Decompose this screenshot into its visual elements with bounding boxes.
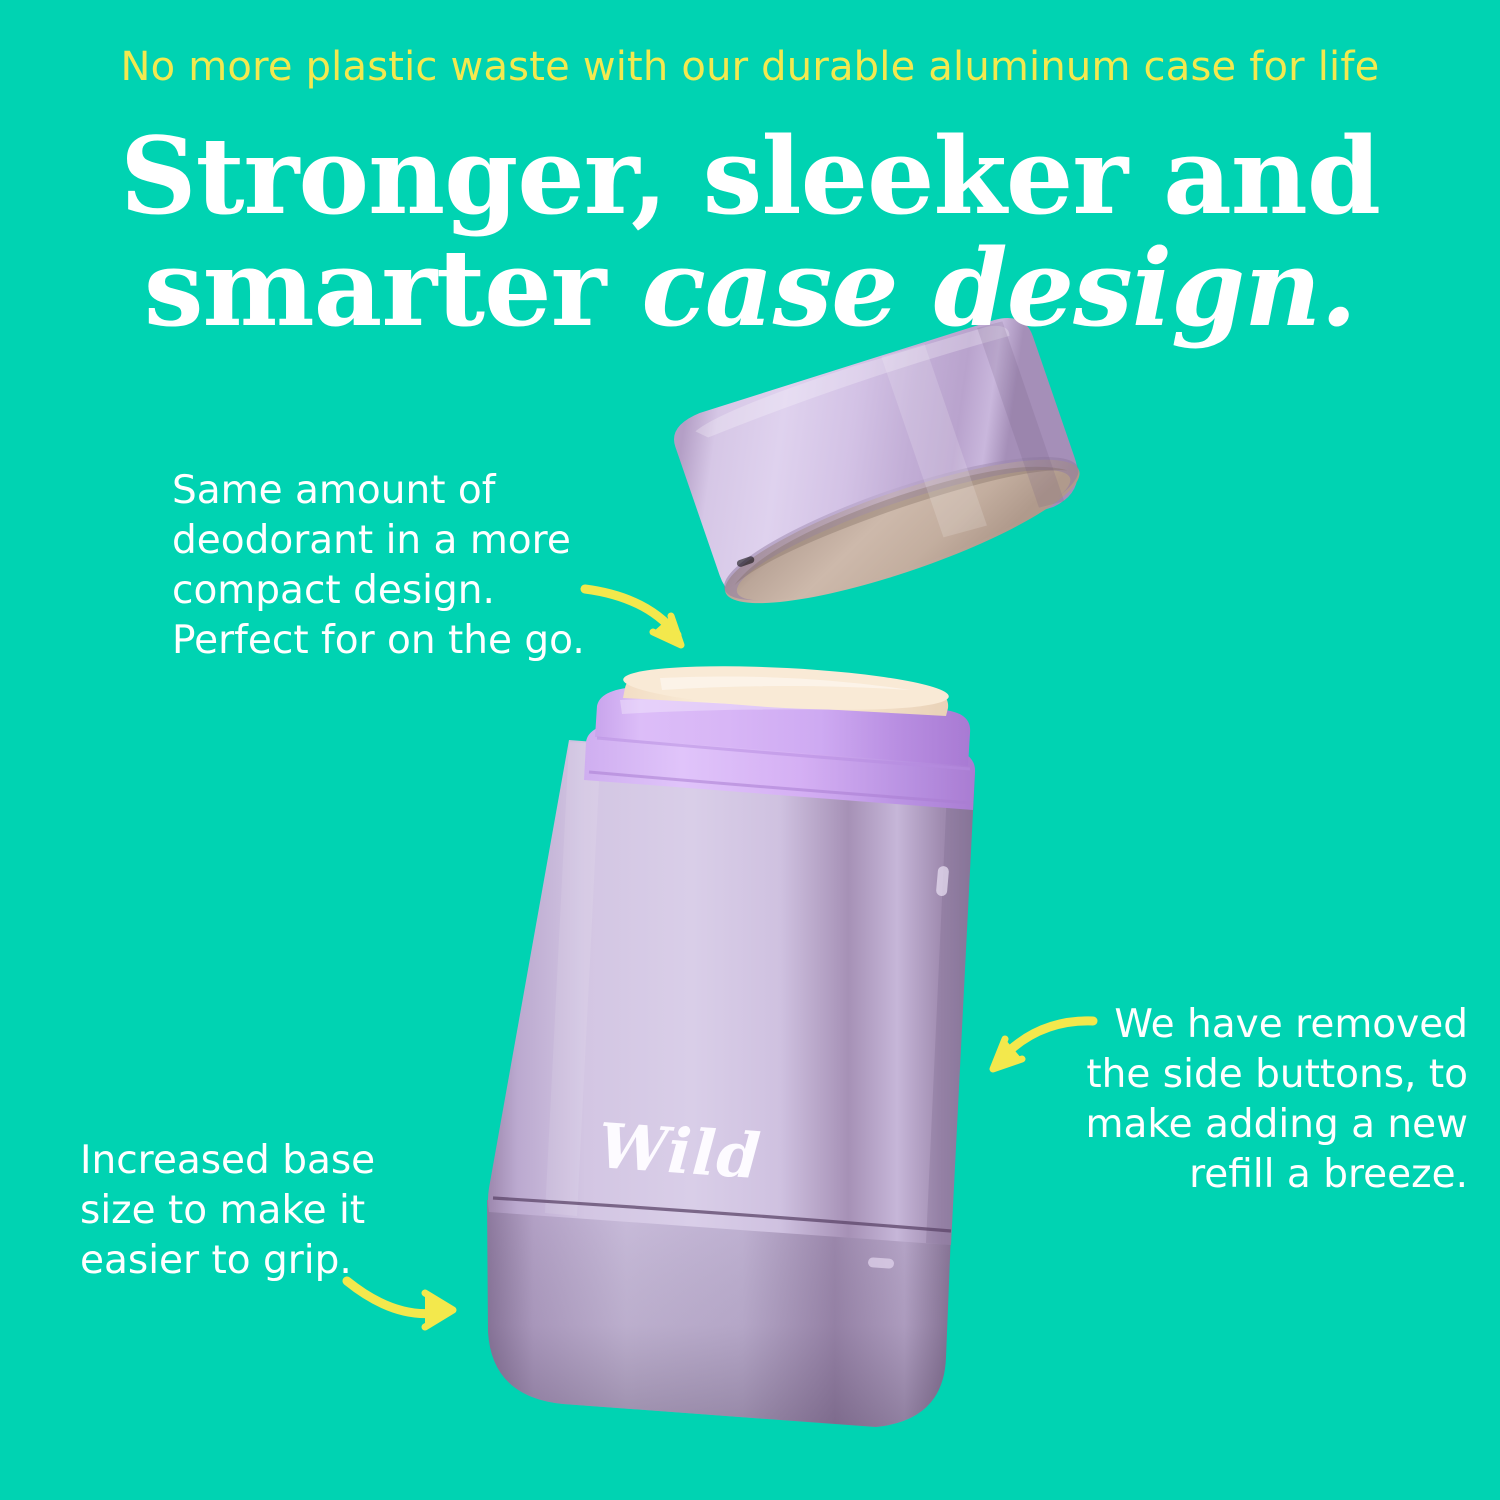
- headline-line2-plain: smarter: [144, 225, 642, 350]
- tagline: No more plastic waste with our durable a…: [0, 44, 1500, 90]
- callout-increased-base: Increased base size to make it easier to…: [80, 1136, 420, 1286]
- promo-image: Wild No more plastic waste with our dura…: [0, 0, 1500, 1500]
- page-title: Stronger, sleeker and smarter case desig…: [0, 120, 1500, 345]
- callout-compact-design: Same amount of deodorant in a more compa…: [172, 466, 592, 666]
- headline-line1: Stronger, sleeker and: [120, 113, 1380, 238]
- brand-logo: Wild: [596, 1109, 764, 1193]
- callout-no-side-buttons: We have removed the side buttons, to mak…: [1078, 1000, 1468, 1200]
- headline-line2-italic: case design.: [641, 225, 1356, 350]
- case-lid: [668, 302, 1093, 630]
